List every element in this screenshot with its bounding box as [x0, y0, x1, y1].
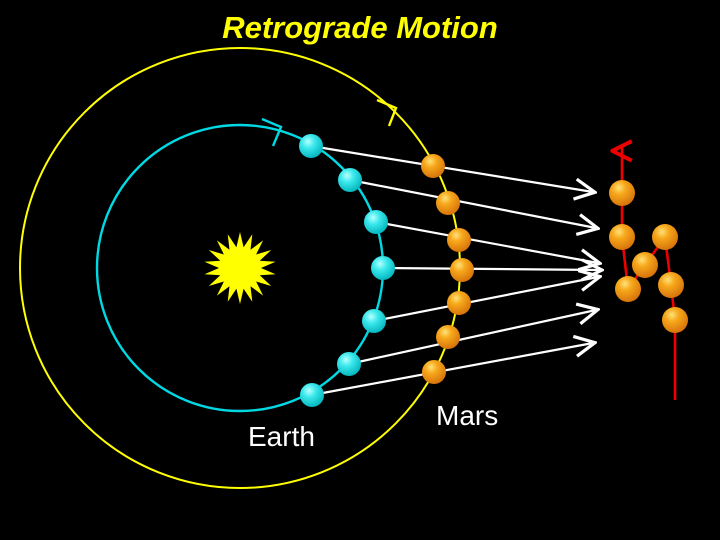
diagram-canvas: Retrograde Motion Earth Mars	[0, 0, 720, 540]
mars-label: Mars	[436, 400, 498, 431]
mars-body	[447, 291, 471, 315]
earth-body	[300, 383, 324, 407]
sky-mars-body	[609, 180, 635, 206]
mars-body	[436, 325, 460, 349]
mars-body	[421, 154, 445, 178]
mars-body	[447, 228, 471, 252]
sky-mars-body	[652, 224, 678, 250]
earth-body	[364, 210, 388, 234]
background	[0, 0, 720, 540]
earth-body	[299, 134, 323, 158]
mars-body	[422, 360, 446, 384]
earth-body	[362, 309, 386, 333]
sky-mars-body	[658, 272, 684, 298]
earth-body	[338, 168, 362, 192]
earth-body	[371, 256, 395, 280]
sky-mars-body	[609, 224, 635, 250]
earth-body	[337, 352, 361, 376]
page-title: Retrograde Motion	[222, 10, 498, 45]
mars-body	[436, 191, 460, 215]
sky-mars-body	[662, 307, 688, 333]
sky-mars-body	[632, 252, 658, 278]
mars-body	[450, 258, 474, 282]
earth-label: Earth	[248, 421, 315, 452]
retrograde-motion-diagram: Retrograde Motion Earth Mars	[0, 0, 720, 540]
sky-mars-body	[615, 276, 641, 302]
